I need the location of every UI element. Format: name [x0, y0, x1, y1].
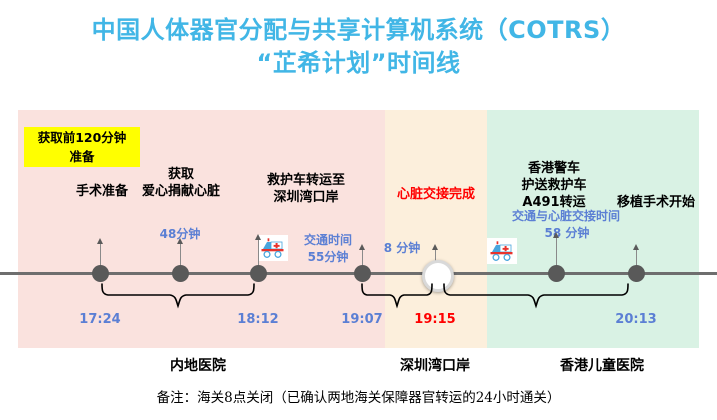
duration-handover: 8 分钟	[370, 240, 434, 257]
brace-hongkong	[436, 282, 648, 316]
timeline-dot[interactable]	[628, 265, 645, 282]
timeline-dot[interactable]	[172, 265, 189, 282]
time-1915: 19:15	[405, 312, 465, 327]
brace-mainland	[88, 282, 272, 316]
event-harvest-line-2: 爱心捐献心脏	[128, 183, 234, 200]
time-1724: 17:24	[70, 312, 130, 327]
preparation-highlight-box: 获取前120分钟 准备	[24, 127, 140, 167]
ambulance-icon	[258, 235, 288, 261]
event-hk-police-line-1: 香港警车	[504, 160, 604, 177]
timeline-dot[interactable]	[92, 265, 109, 282]
duration-hk-label: 交通与心脏交接时间	[496, 208, 636, 225]
section-label-mainland: 内地医院	[138, 355, 258, 375]
event-ambulance-transfer-line-2: 深圳湾口岸	[252, 189, 360, 206]
timeline-dot[interactable]	[354, 265, 371, 282]
ambulance-icon	[487, 238, 517, 264]
duration-traffic-value: 55分钟	[294, 249, 362, 266]
timeline-infographic: 中国人体器官分配与共享计算机系统（COTRS） “芷希计划”时间线 获取前120…	[0, 0, 717, 420]
highlight-line-1: 获取前120分钟	[24, 128, 140, 147]
event-heart-handover-complete: 心脏交接完成	[383, 186, 489, 203]
section-label-port: 深圳湾口岸	[375, 355, 495, 375]
title-line-2: “芷希计划”时间线	[0, 47, 717, 80]
highlight-line-2: 准备	[24, 147, 140, 166]
section-label-hongkong: 香港儿童医院	[532, 355, 672, 375]
duration-traffic-label: 交通时间	[294, 232, 362, 249]
brace-port	[352, 282, 448, 316]
event-hk-police-line-2: 护送救护车	[504, 177, 604, 194]
time-1812: 18:12	[228, 312, 288, 327]
duration-hk-value: 58 分钟	[524, 225, 610, 242]
event-harvest-line-1: 获取	[134, 166, 228, 183]
event-ambulance-transfer-line-1: 救护车转运至	[252, 172, 360, 189]
page-title: 中国人体器官分配与共享计算机系统（COTRS） “芷希计划”时间线	[0, 14, 717, 80]
time-2013: 20:13	[606, 312, 666, 327]
timeline-dot[interactable]	[548, 265, 565, 282]
timeline-dot[interactable]	[250, 265, 267, 282]
footnote: 备注：海关8点关闭（已确认两地海关保障器官转运的24小时通关）	[0, 386, 717, 406]
time-1907: 19:07	[332, 312, 392, 327]
title-line-1: 中国人体器官分配与共享计算机系统（COTRS）	[0, 14, 717, 47]
